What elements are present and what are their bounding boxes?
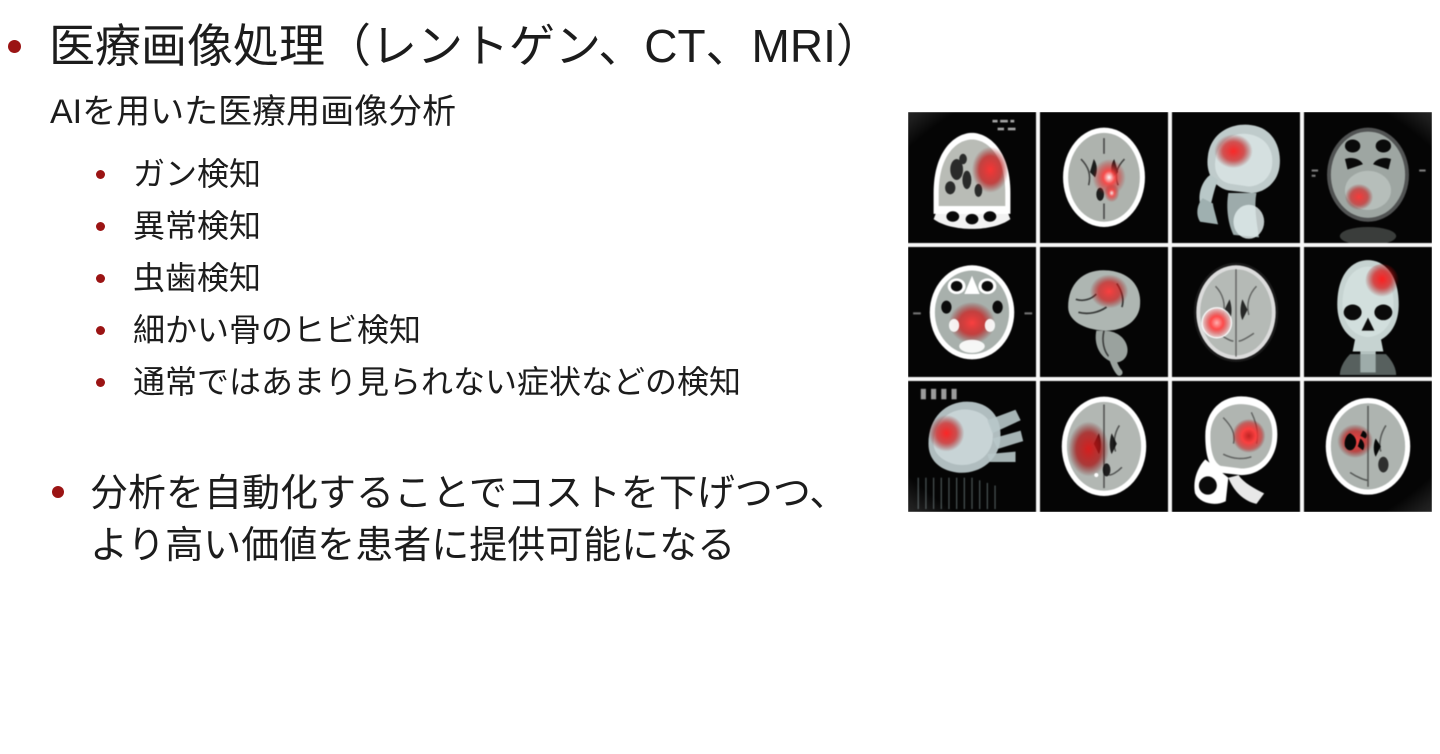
closing-line-2: より高い価値を患者に提供可能になる: [90, 520, 847, 572]
bullet-dot-icon: [96, 274, 105, 283]
scan-cell-axial-ct-brain: [1040, 112, 1168, 243]
list-item-label: ガン検知: [133, 155, 261, 193]
presentation-slide: 医療画像処理（レントゲン、CT、MRI） AIを用いた医療用画像分析 ガン検知 …: [0, 0, 1440, 754]
scan-cell-sagittal-mri-brain: [1040, 247, 1168, 378]
list-item-label: 虫歯検知: [133, 259, 261, 297]
scan-cell-axial-ct-brain-bleed: [1040, 381, 1168, 512]
list-item-label: 異常検知: [133, 207, 261, 245]
scan-cell-axial-mri-skullbase: [1304, 112, 1432, 243]
list-item: 異常検知: [96, 200, 741, 252]
list-item: ガン検知: [96, 148, 741, 200]
scan-cell-axial-mri-brain: [1172, 247, 1300, 378]
scan-cell-axial-ct-skullbase: [908, 247, 1036, 378]
scan-cell-lateral-skull-xray: [1172, 112, 1300, 243]
slide-subtitle: AIを用いた医療用画像分析: [50, 90, 456, 134]
list-item-label: 通常ではあまり見られない症状などの検知: [133, 363, 741, 401]
bullet-dot-icon: [96, 378, 105, 387]
bullet-dot-icon: [96, 170, 105, 179]
scan-cell-oblique-skull-xray: [908, 381, 1036, 512]
list-item-label: 細かい骨のヒビ検知: [133, 311, 421, 349]
bullet-dot-icon: [8, 40, 21, 53]
list-item: 細かい骨のヒビ検知: [96, 304, 741, 356]
scan-cell-sagittal-ct-head: [1172, 381, 1300, 512]
scan-grid: [908, 112, 1432, 512]
list-item: 虫歯検知: [96, 252, 741, 304]
list-item: 通常ではあまり見られない症状などの検知: [96, 356, 741, 408]
scan-cell-frontal-skull-xray: [1304, 247, 1432, 378]
closing-paragraph: 分析を自動化することでコストを下げつつ、 より高い価値を患者に提供可能になる: [90, 468, 847, 572]
closing-bullet-row: 分析を自動化することでコストを下げつつ、 より高い価値を患者に提供可能になる: [52, 468, 847, 572]
slide-text-column: 医療画像処理（レントゲン、CT、MRI） AIを用いた医療用画像分析 ガン検知 …: [0, 0, 930, 754]
medical-scan-montage: [908, 112, 1432, 512]
scan-cell-axial-ct-basal-ganglia: [1304, 381, 1432, 512]
bullet-dot-icon: [52, 486, 64, 498]
bullet-dot-icon: [96, 326, 105, 335]
scan-cell-coronal-ct-brain: [908, 112, 1036, 243]
slide-title: 医療画像処理（レントゲン、CT、MRI）: [49, 18, 882, 74]
sub-bullet-list: ガン検知 異常検知 虫歯検知 細かい骨のヒビ検知 通常ではあまり見られない症状な…: [96, 148, 741, 408]
bullet-dot-icon: [96, 222, 105, 231]
closing-line-1: 分析を自動化することでコストを下げつつ、: [90, 468, 847, 520]
title-bullet-row: 医療画像処理（レントゲン、CT、MRI）: [8, 18, 882, 74]
